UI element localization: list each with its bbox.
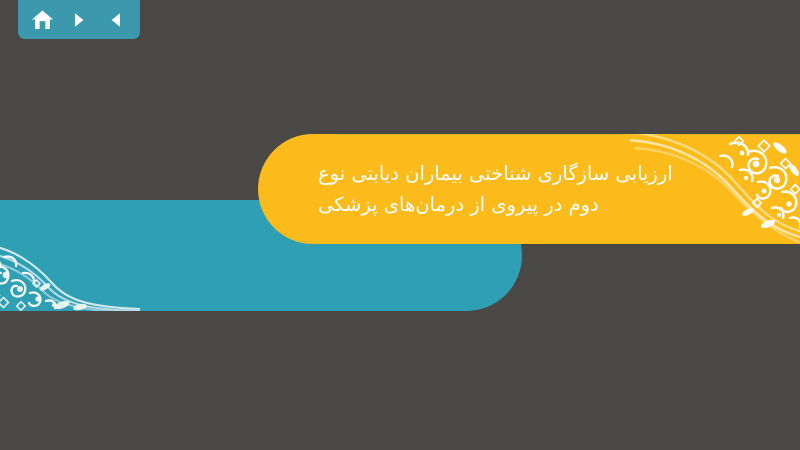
forward-arrow-icon [69,10,89,30]
home-button[interactable] [27,5,57,35]
back-button[interactable] [101,5,131,35]
teal-arabesque-ornament [0,215,140,311]
back-arrow-icon [106,10,126,30]
navigation-bar [18,0,140,39]
title-line-1: ارزیابی سازگاری شناختی بیماران دیابتی نو… [318,158,673,189]
title-banner: ارزیابی سازگاری شناختی بیماران دیابتی نو… [258,134,800,244]
title-line-2: دوم در پیروی از درمان‌های پزشکی [318,189,599,220]
home-icon [31,9,54,31]
forward-button[interactable] [64,5,94,35]
slide-canvas: ارزیابی سازگاری شناختی بیماران دیابتی نو… [0,0,800,450]
slide-title: ارزیابی سازگاری شناختی بیماران دیابتی نو… [318,134,772,244]
